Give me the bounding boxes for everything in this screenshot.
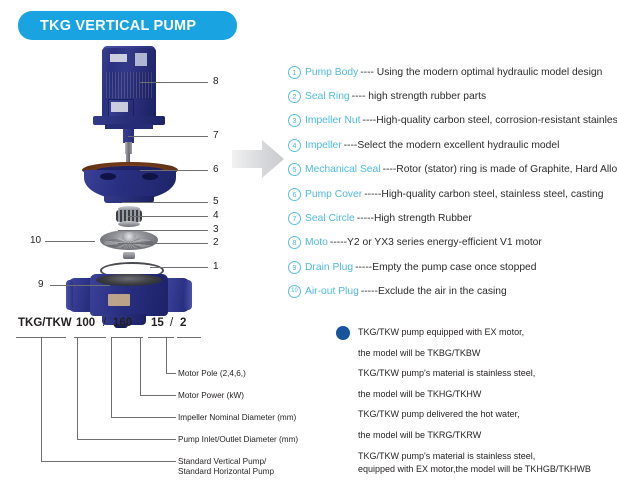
callout-number-3: 3 bbox=[213, 224, 219, 235]
legend-part-name-6: Pump Cover bbox=[305, 189, 362, 200]
model-leader-h-impeller bbox=[111, 417, 176, 418]
outlet-flange-face bbox=[184, 280, 192, 310]
model-token-series: TKG/TKW bbox=[18, 317, 72, 329]
model-label-impeller: Impeller Nominal Diameter (mm) bbox=[178, 412, 296, 423]
model-leader-v-impeller bbox=[111, 337, 112, 417]
model-tick-pole bbox=[177, 337, 201, 338]
legend-part-name-10: Air-out Plug bbox=[305, 286, 359, 297]
note-line-2: the model will be TKBG/TKBW bbox=[358, 343, 606, 364]
callout-line-7 bbox=[128, 136, 208, 137]
parts-legend-list: 1 Pump Body ---- Using the modern optima… bbox=[288, 60, 613, 304]
note-line-4: the model will be TKHG/TKHW bbox=[358, 384, 606, 405]
impeller-hub bbox=[122, 232, 136, 241]
legend-number-6: 6 bbox=[288, 188, 301, 201]
legend-item-7: 7 Seal Circle -----High strength Rubber bbox=[288, 206, 613, 230]
model-tick-inlet bbox=[74, 337, 106, 338]
legend-part-desc-5: ----Rotor (stator) ring is made of Graph… bbox=[383, 164, 617, 175]
callout-number-6: 6 bbox=[213, 164, 219, 175]
page-title: TKG VERTICAL PUMP bbox=[18, 18, 196, 34]
legend-number-4: 4 bbox=[288, 139, 301, 152]
model-leader-h-pole bbox=[166, 373, 176, 374]
motor-cooling-fins bbox=[106, 72, 152, 98]
callout-line-4 bbox=[128, 216, 208, 217]
legend-item-2: 2 Seal Ring ---- high strength rubber pa… bbox=[288, 84, 613, 108]
pump-cover-port-right bbox=[142, 173, 158, 180]
note-line-6: the model will be TKRG/TKRW bbox=[358, 425, 606, 446]
motor-nameplate bbox=[110, 54, 127, 62]
model-code-breakdown: TKG/TKW 100 / 160 - 15 / 2 Motor Pole (2… bbox=[14, 317, 314, 487]
model-leader-h-power bbox=[140, 395, 176, 396]
model-variants-notes: TKG/TKW pump equipped with EX motor, the… bbox=[336, 322, 606, 476]
callout-line-3 bbox=[118, 230, 208, 231]
legend-number-8: 8 bbox=[288, 236, 301, 249]
callout-line-2 bbox=[118, 243, 208, 244]
callout-number-10: 10 bbox=[30, 235, 41, 246]
legend-part-name-7: Seal Circle bbox=[305, 213, 355, 224]
note-line-5: TKG/TKW pump delivered the hot water, bbox=[358, 404, 606, 425]
model-leader-h-series bbox=[41, 461, 176, 462]
model-leader-v-pole bbox=[166, 337, 167, 373]
motor-label-plate bbox=[135, 53, 147, 66]
exploded-view-pump-image bbox=[30, 46, 240, 296]
legend-part-desc-4: ----Select the modern excellent hydrauli… bbox=[344, 140, 560, 151]
callout-number-8: 8 bbox=[213, 76, 219, 87]
bullet-icon bbox=[336, 326, 350, 340]
model-label-standard-2: Standard Horizontal Pump bbox=[178, 466, 274, 477]
legend-number-2: 2 bbox=[288, 90, 301, 103]
callout-number-9: 9 bbox=[38, 279, 44, 290]
callout-line-5 bbox=[122, 202, 208, 203]
legend-part-desc-3: ----High-quality carbon steel, corrosion… bbox=[363, 115, 617, 126]
model-label-inlet: Pump Inlet/Outlet Diameter (mm) bbox=[178, 434, 298, 445]
model-label-pole: Motor Pole (2,4,6,) bbox=[178, 368, 246, 379]
header-banner: TKG VERTICAL PUMP bbox=[18, 11, 237, 40]
legend-number-7: 7 bbox=[288, 212, 301, 225]
legend-part-desc-1: ---- Using the modern optimal hydraulic … bbox=[360, 67, 602, 78]
legend-part-name-8: Moto bbox=[305, 237, 328, 248]
model-token-pole: 2 bbox=[180, 317, 186, 329]
model-separator-1: / bbox=[103, 317, 106, 329]
model-token-inlet: 100 bbox=[76, 317, 95, 329]
legend-part-desc-6: -----High-quality carbon steel, stainles… bbox=[364, 189, 603, 200]
model-label-power: Motor Power (kW) bbox=[178, 390, 244, 401]
model-leader-v-inlet bbox=[77, 337, 78, 439]
note-line-8: equipped with EX motor,the model will be… bbox=[358, 463, 606, 476]
terminal-box-label bbox=[111, 102, 128, 112]
callout-line-6 bbox=[140, 170, 208, 171]
legend-item-6: 6 Pump Cover -----High-quality carbon st… bbox=[288, 182, 613, 206]
impeller-nut bbox=[123, 252, 135, 259]
legend-number-5: 5 bbox=[288, 163, 301, 176]
legend-part-desc-10: -----Exclude the air in the casing bbox=[361, 286, 507, 297]
callout-number-1: 1 bbox=[213, 261, 219, 272]
legend-item-10: 10 Air-out Plug -----Exclude the air in … bbox=[288, 280, 613, 304]
legend-item-5: 5 Mechanical Seal ----Rotor (stator) rin… bbox=[288, 158, 613, 182]
legend-part-desc-9: -----Empty the pump case once stopped bbox=[355, 262, 536, 273]
model-tick-power bbox=[148, 337, 174, 338]
legend-part-desc-7: -----High strength Rubber bbox=[357, 213, 472, 224]
legend-number-1: 1 bbox=[288, 66, 301, 79]
arrow-right-icon bbox=[232, 139, 284, 179]
legend-item-4: 4 Impeller ----Select the modern excelle… bbox=[288, 133, 613, 157]
callout-number-7: 7 bbox=[213, 130, 219, 141]
callout-number-4: 4 bbox=[213, 210, 219, 221]
callout-number-5: 5 bbox=[213, 196, 219, 207]
model-tick-impeller bbox=[111, 337, 143, 338]
legend-number-10: 10 bbox=[288, 285, 301, 298]
note-line-7: TKG/TKW pump's material is stainless ste… bbox=[358, 450, 606, 463]
legend-part-name-1: Pump Body bbox=[305, 67, 358, 78]
model-leader-h-inlet bbox=[77, 439, 176, 440]
legend-item-9: 9 Drain Plug -----Empty the pump case on… bbox=[288, 255, 613, 279]
model-token-impeller: 160 bbox=[113, 317, 132, 329]
callout-number-2: 2 bbox=[213, 237, 219, 248]
mechanical-seal-bottom bbox=[118, 221, 140, 227]
model-token-power: 15 bbox=[151, 317, 164, 329]
callout-line-9 bbox=[50, 285, 110, 286]
callout-line-10 bbox=[45, 241, 95, 242]
model-separator-3: / bbox=[170, 317, 173, 329]
legend-item-1: 1 Pump Body ---- Using the modern optima… bbox=[288, 60, 613, 84]
legend-part-name-9: Drain Plug bbox=[305, 262, 353, 273]
note-line-3: TKG/TKW pump's material is stainless ste… bbox=[358, 363, 606, 384]
legend-item-8: 8 Moto -----Y2 or YX3 series energy-effi… bbox=[288, 231, 613, 255]
callout-line-1 bbox=[150, 267, 208, 268]
model-leader-v-series bbox=[41, 337, 42, 461]
model-leader-v-power bbox=[140, 337, 141, 395]
note-line-1: TKG/TKW pump equipped with EX motor, bbox=[358, 322, 606, 343]
pump-cover-port-left bbox=[100, 173, 116, 180]
legend-part-name-2: Seal Ring bbox=[305, 91, 350, 102]
legend-part-name-5: Mechanical Seal bbox=[305, 164, 381, 175]
legend-item-3: 3 Impeller Nut ----High-quality carbon s… bbox=[288, 109, 613, 133]
legend-part-desc-2: ---- high strength rubber parts bbox=[352, 91, 487, 102]
pump-body-nameplate bbox=[108, 294, 130, 306]
legend-part-name-4: Impeller bbox=[305, 140, 342, 151]
legend-part-name-3: Impeller Nut bbox=[305, 115, 361, 126]
legend-number-9: 9 bbox=[288, 261, 301, 274]
legend-part-desc-8: -----Y2 or YX3 series energy-efficient V… bbox=[330, 237, 542, 248]
callout-line-8 bbox=[140, 82, 208, 83]
legend-number-3: 3 bbox=[288, 114, 301, 127]
model-separator-2: - bbox=[142, 317, 146, 329]
